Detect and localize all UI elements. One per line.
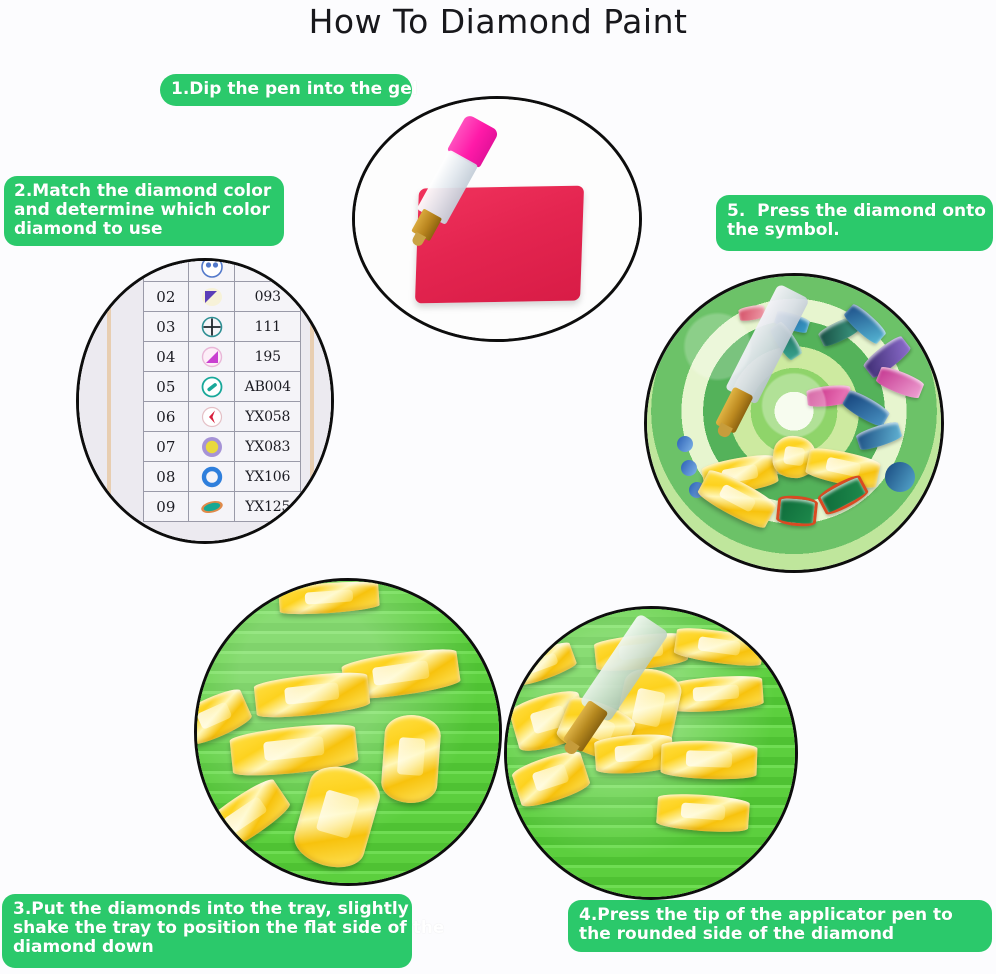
leaf-outline-1 (776, 494, 819, 528)
chart-row-index: 02 (144, 282, 189, 312)
color-symbol-chart: 02802093031110419505AB00406YX05807YX0830… (143, 258, 301, 522)
chart-row-code: YX083 (235, 432, 301, 462)
chart-row-code: 195 (235, 342, 301, 372)
table-row: 06YX058 (144, 402, 301, 432)
chart-row-symbol-double-dot-circle-icon (188, 258, 235, 282)
chart-row-code: YX058 (235, 402, 301, 432)
chart-row-symbol-filled-dot-ring-icon (188, 432, 235, 462)
step-4-photo-inner (507, 609, 795, 897)
chart-body: 02802093031110419505AB00406YX05807YX0830… (144, 258, 301, 522)
step-4-photo (504, 606, 798, 900)
step-2-line-3: diamond to use (14, 220, 274, 239)
applicator-pen (693, 282, 814, 462)
table-row: 02093 (144, 282, 301, 312)
step-3-line-2: shake the tray to position the flat side… (13, 919, 401, 938)
diamond-yellow-1 (701, 452, 780, 498)
chart-row-code: AB004 (235, 372, 301, 402)
chart-row-index: 06 (144, 402, 189, 432)
page-title: How To Diamond Paint (0, 2, 996, 41)
chart-row-symbol-filled-triangle-icon (188, 282, 235, 312)
diamond-yellow-6 (380, 713, 442, 805)
chart-row-symbol-circled-plus-icon (188, 312, 235, 342)
gem-blue-2 (842, 302, 888, 346)
chart-row-symbol-chevron-left-icon (188, 402, 235, 432)
chart-row-symbol-open-ring-icon (188, 462, 235, 492)
chart-row-code: 028 (235, 258, 301, 282)
leaf-outline-2 (816, 472, 871, 517)
step-2-line-1: 2.Match the diamond color (14, 182, 274, 201)
diamond-yellow-center (770, 433, 817, 480)
diamond-yellow-3 (804, 445, 881, 491)
infographic-canvas: How To Diamond Paint 1.Dip the pen into … (0, 0, 996, 974)
gem-pink-1 (738, 304, 766, 322)
step-5-callout: 5. Press the diamond onto the symbol. (716, 195, 993, 251)
chart-row-symbol-leaf-ellipse-icon (188, 492, 235, 522)
diamond-yellow-2 (695, 466, 778, 532)
gem-magenta-2 (806, 384, 852, 408)
gem-teal-1 (817, 314, 861, 349)
table-row: 08YX106 (144, 462, 301, 492)
gem-teal-2 (768, 320, 804, 362)
step-1-photo (352, 96, 642, 342)
table-row: 04195 (144, 342, 301, 372)
step-1-line-1: 1.Dip the pen into the gel (171, 80, 401, 99)
step-4-callout: 4.Press the tip of the applicator pen to… (568, 900, 992, 952)
gem-magenta-1 (875, 364, 926, 401)
table-row: 028 (144, 258, 301, 282)
step-5-photo (644, 273, 944, 573)
step-3-photo-inner (197, 581, 499, 883)
gem-round-1 (677, 436, 693, 452)
sheet-edge-left (107, 261, 111, 541)
step-3-photo (194, 578, 502, 886)
chart-row-code: 093 (235, 282, 301, 312)
chart-row-code: YX106 (235, 462, 301, 492)
chart-row-symbol-triangle-in-circle-icon (188, 342, 235, 372)
table-row: 05AB004 (144, 372, 301, 402)
gem-purple-1 (861, 334, 912, 381)
step-4-line-2: the rounded side of the diamond (579, 925, 981, 944)
step-5-photo-inner (647, 276, 941, 570)
pen-tip (716, 423, 733, 440)
step-1-photo-inner (355, 99, 639, 339)
chart-row-index: 05 (144, 372, 189, 402)
chart-row-symbol-slash-in-circle-icon (188, 372, 235, 402)
gem-blue-1 (773, 309, 810, 335)
gem-round-4 (885, 462, 915, 492)
step-5-line-2: the symbol. (727, 221, 982, 240)
gem-round-2 (681, 460, 697, 476)
chart-row-code: YX125 (235, 492, 301, 522)
chart-row-index: 08 (144, 462, 189, 492)
diamond-yellow-9 (660, 739, 757, 780)
gem-blue-3 (841, 388, 891, 429)
table-row: 07YX083 (144, 432, 301, 462)
chart-row-code: 111 (235, 312, 301, 342)
step-1-callout: 1.Dip the pen into the gel (160, 74, 412, 106)
table-row: 03111 (144, 312, 301, 342)
chart-row-index: 03 (144, 312, 189, 342)
pen-barrel (725, 283, 810, 404)
step-3-line-1: 3.Put the diamonds into the tray, slight… (13, 900, 401, 919)
gem-round-3 (689, 482, 705, 498)
sheet-edge-right (310, 261, 314, 541)
chart-row-index: 04 (144, 342, 189, 372)
chart-row-index (144, 258, 189, 282)
step-2-photo-inner: 02802093031110419505AB00406YX05807YX0830… (79, 261, 331, 541)
step-2-callout: 2.Match the diamond color and determine … (4, 176, 284, 246)
table-row: 09YX125 (144, 492, 301, 522)
step-4-line-1: 4.Press the tip of the applicator pen to (579, 906, 981, 925)
step-2-photo: 02802093031110419505AB00406YX05807YX0830… (76, 258, 334, 544)
step-5-line-1: 5. Press the diamond onto (727, 202, 982, 221)
pen-ferrule (715, 386, 754, 433)
step-3-callout: 3.Put the diamonds into the tray, slight… (2, 894, 412, 968)
chart-row-index: 09 (144, 492, 189, 522)
chart-row-index: 07 (144, 432, 189, 462)
step-3-line-3: diamond down (13, 938, 401, 957)
gem-blue-4 (855, 420, 903, 453)
step-2-line-2: and determine which color (14, 201, 274, 220)
